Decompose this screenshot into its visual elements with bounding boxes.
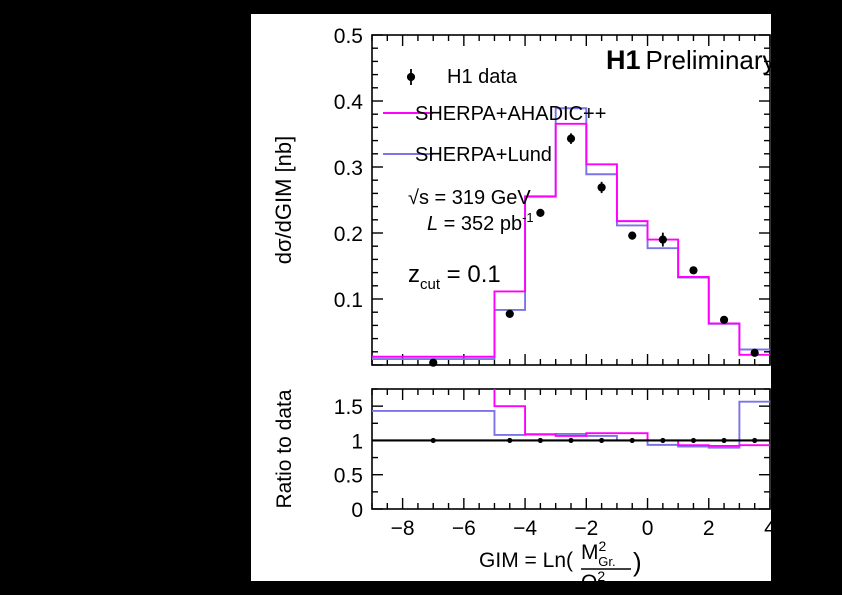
experiment-tag: H1Preliminary bbox=[606, 45, 771, 75]
x-axis-title-denominator: Q2Min. bbox=[581, 568, 622, 581]
ratio-data-point bbox=[721, 438, 726, 443]
ratio-curves bbox=[372, 375, 770, 447]
x-tick-label: −4 bbox=[513, 517, 537, 540]
x-tick-label: 2 bbox=[703, 517, 715, 540]
x-tick-label: 4 bbox=[764, 517, 771, 540]
annotation-luminosity: L = 352 pb-1 bbox=[427, 210, 534, 235]
ratio-data-point bbox=[507, 438, 512, 443]
ratio-data-point bbox=[538, 438, 543, 443]
y-tick-label: 0.2 bbox=[334, 223, 363, 246]
plot-canvas: 0.10.20.30.40.5dσ/dGIM [nb]H1 dataSHERPA… bbox=[251, 14, 771, 581]
legend-label-h1-data: H1 data bbox=[447, 66, 518, 88]
annotation-energy: √s = 319 GeV bbox=[408, 187, 531, 209]
legend-label-lund: SHERPA+Lund bbox=[415, 144, 552, 166]
data-point bbox=[659, 236, 667, 244]
y-axis-title-main: dσ/dGIM [nb] bbox=[271, 136, 296, 265]
annotations: √s = 319 GeVL = 352 pb-1zcut = 0.1 bbox=[408, 187, 534, 293]
x-axis-title-prefix: GIM = Ln( bbox=[479, 549, 573, 572]
y-axis-title-ratio: Ratio to data bbox=[273, 389, 296, 508]
data-point bbox=[536, 209, 544, 217]
ratio-y-tick-label: 0 bbox=[351, 499, 363, 522]
x-tick-label: 0 bbox=[642, 517, 654, 540]
legend-label-ahadic: SHERPA+AHADIC++ bbox=[415, 103, 606, 125]
ratio-data-point bbox=[599, 438, 604, 443]
ratio-y-tick-label: 0.5 bbox=[334, 465, 363, 488]
annotation-zcut: zcut = 0.1 bbox=[408, 261, 501, 293]
x-axis-title-numerator: M2Gr. bbox=[581, 538, 616, 569]
data-point bbox=[506, 310, 514, 318]
ratio-y-tick-label: 1.5 bbox=[334, 396, 363, 419]
data-point bbox=[429, 359, 437, 367]
ratio-panel: 00.511.5−8−6−4−2024Ratio to data bbox=[273, 375, 771, 540]
ratio-data-point bbox=[630, 438, 635, 443]
data-point bbox=[598, 183, 606, 191]
y-tick-label: 0.5 bbox=[334, 25, 363, 48]
experiment-tag-text: H1Preliminary bbox=[606, 45, 771, 75]
ratio-data-point bbox=[752, 438, 757, 443]
legend: H1 dataSHERPA+AHADIC++SHERPA+Lund bbox=[383, 66, 606, 166]
data-point bbox=[689, 266, 697, 274]
ratio-data-point bbox=[660, 438, 665, 443]
y-tick-label: 0.1 bbox=[334, 289, 363, 312]
x-axis-title: GIM = Ln(M2Gr.Q2Min.) bbox=[479, 538, 642, 581]
x-tick-label: −8 bbox=[391, 517, 415, 540]
main-panel: 0.10.20.30.40.5dσ/dGIM [nb]H1 dataSHERPA… bbox=[271, 25, 771, 367]
physics-plot-svg: 0.10.20.30.40.5dσ/dGIM [nb]H1 dataSHERPA… bbox=[251, 14, 771, 581]
legend-marker-h1-data-dot bbox=[407, 73, 415, 81]
ratio-data-point bbox=[568, 438, 573, 443]
data-points-main bbox=[429, 133, 759, 366]
ratio-panel-frame bbox=[372, 389, 770, 509]
figure-root: 0.10.20.30.40.5dσ/dGIM [nb]H1 dataSHERPA… bbox=[0, 0, 842, 595]
ratio-y-tick-label: 1 bbox=[351, 430, 363, 453]
y-tick-label: 0.3 bbox=[334, 157, 363, 180]
x-tick-label: −2 bbox=[574, 517, 598, 540]
y-tick-label: 0.4 bbox=[334, 91, 364, 114]
x-axis-title-suffix: ) bbox=[633, 547, 642, 577]
data-point bbox=[567, 135, 575, 143]
ratio-data-point bbox=[431, 438, 436, 443]
ratio-data-point bbox=[691, 438, 696, 443]
data-point bbox=[628, 232, 636, 240]
data-point bbox=[751, 349, 759, 357]
x-tick-label: −6 bbox=[452, 517, 476, 540]
data-point bbox=[720, 316, 728, 324]
